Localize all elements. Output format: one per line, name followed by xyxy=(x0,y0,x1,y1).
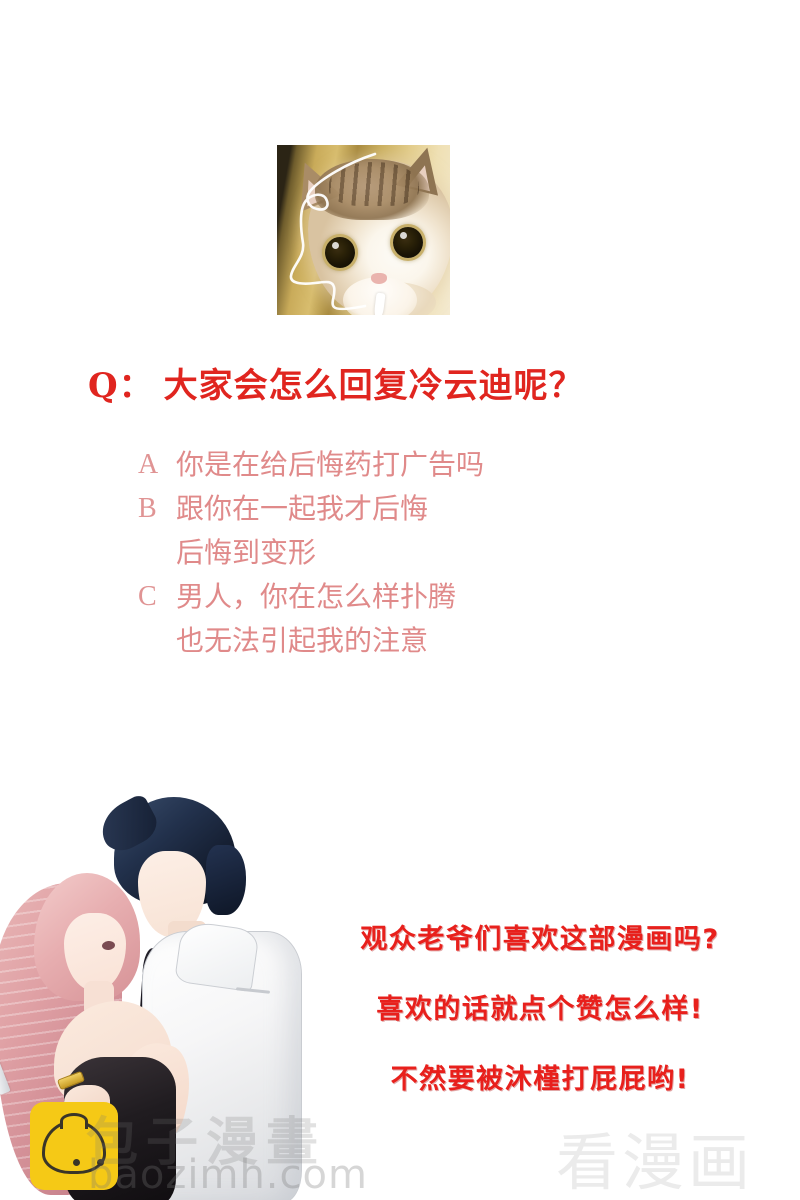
quiz-option-a-key: A xyxy=(138,443,176,487)
quiz-option-a[interactable]: A 你是在给后悔药打广告吗 xyxy=(138,443,698,487)
promo-line-1: 观众老爷们喜欢这部漫画吗? xyxy=(300,905,780,975)
cat-meme-image xyxy=(277,145,450,315)
bun-eye-left xyxy=(73,1159,80,1166)
quiz-option-b-line-2: 后悔到变形 xyxy=(138,531,698,575)
man-jacket-collar xyxy=(174,920,260,992)
quiz-question: Q：大家会怎么回复冷云迪呢？ xyxy=(88,358,728,407)
quiz-option-b-line-1: 跟你在一起我才后悔 xyxy=(176,487,698,531)
quiz-option-a-line-1: 你是在给后悔药打广告吗 xyxy=(176,443,698,487)
white-scribble-overlay xyxy=(277,145,450,315)
promo-text-block: 观众老爷们喜欢这部漫画吗? 喜欢的话就点个赞怎么样! 不然要被沐槿打屁屁哟! xyxy=(300,905,780,1115)
promo-line-2: 喜欢的话就点个赞怎么样! xyxy=(300,975,780,1045)
watermark-right: 看漫画 xyxy=(556,1112,754,1200)
quiz-option-c-key: C xyxy=(138,575,176,619)
quiz-question-label: Q： xyxy=(88,366,154,406)
quiz-question-text: 大家会怎么回复冷云迪呢？ xyxy=(164,366,584,406)
bun-pleat xyxy=(60,1113,88,1129)
quiz-option-c-line-1: 男人，你在怎么样扑腾 xyxy=(176,575,698,619)
quiz-option-b-key: B xyxy=(138,487,176,531)
watermark-url: baozimh.com xyxy=(88,1152,368,1198)
quiz-option-c-line-2: 也无法引起我的注意 xyxy=(138,619,698,663)
quiz-options: A 你是在给后悔药打广告吗 B 跟你在一起我才后悔 后悔到变形 C 男人，你在怎… xyxy=(138,443,698,663)
quiz-option-c[interactable]: C 男人，你在怎么样扑腾 xyxy=(138,575,698,619)
quiz-option-b[interactable]: B 跟你在一起我才后悔 xyxy=(138,487,698,531)
promo-line-3: 不然要被沐槿打屁屁哟! xyxy=(300,1045,780,1115)
watermark-left: 包子漫畫 baozimh.com xyxy=(8,1098,338,1198)
comic-page: Q：大家会怎么回复冷云迪呢？ A 你是在给后悔药打广告吗 B 跟你在一起我才后悔… xyxy=(0,0,800,1200)
